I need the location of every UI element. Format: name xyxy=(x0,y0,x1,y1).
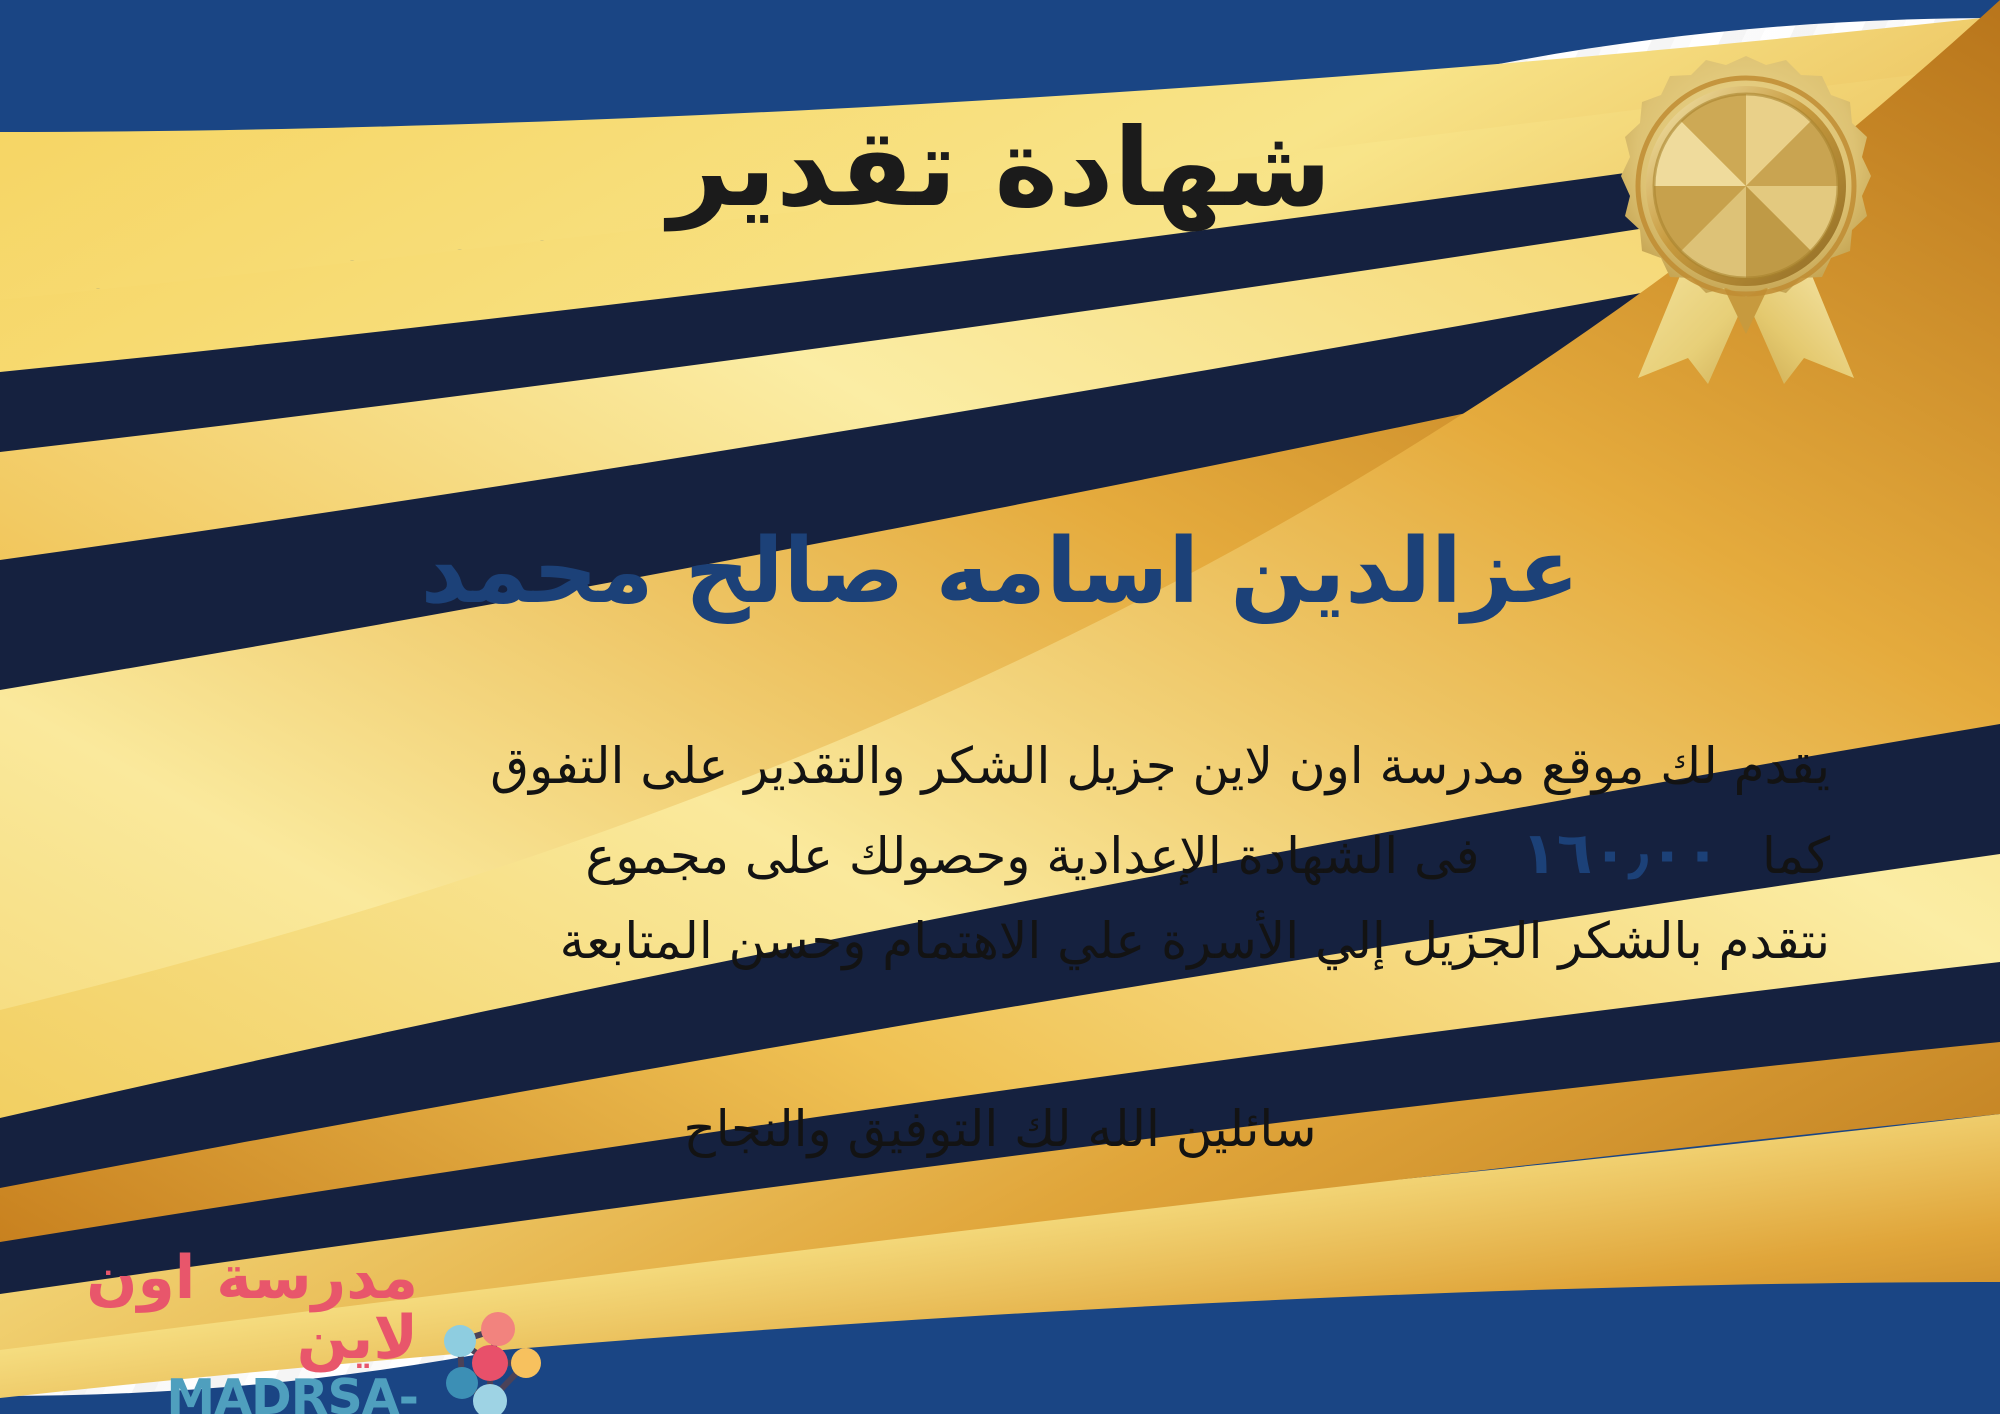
certificate-page: شهادة تقدير xyxy=(0,0,2000,1414)
certificate-body: يقدم لك موقع مدرسة اون لاين جزيل الشكر و… xyxy=(40,726,1960,982)
body-line-2-suffix: كما xyxy=(1762,827,1830,885)
body-line-2-prefix: فى الشهادة الإعدادية وحصولك على مجموع xyxy=(585,827,1479,885)
student-name: عزالدين اسامه صالح محمد xyxy=(0,520,2000,624)
score-value: ١٦٠٫٠٠ xyxy=(1495,807,1746,901)
network-nodes-icon xyxy=(428,1301,548,1414)
closing-line: سائلين الله لك التوفيق والنجاح xyxy=(0,1100,2000,1158)
gold-medal-icon xyxy=(1596,34,1896,384)
logo-domain-text: MADRSA-ONLINE.COM xyxy=(28,1372,418,1414)
site-logo[interactable]: مدرسة اون لاين MADRSA-ONLINE.COM xyxy=(28,1248,548,1388)
body-line-1: يقدم لك موقع مدرسة اون لاين جزيل الشكر و… xyxy=(40,726,1960,807)
certificate-content: شهادة تقدير xyxy=(0,0,2000,1414)
logo-arabic-text: مدرسة اون لاين xyxy=(28,1248,418,1368)
body-line-2: كما ١٦٠٫٠٠ فى الشهادة الإعدادية وحصولك ع… xyxy=(40,807,1960,901)
body-line-3: نتقدم بالشكر الجزيل إلي الأسرة علي الاهت… xyxy=(40,901,1960,982)
